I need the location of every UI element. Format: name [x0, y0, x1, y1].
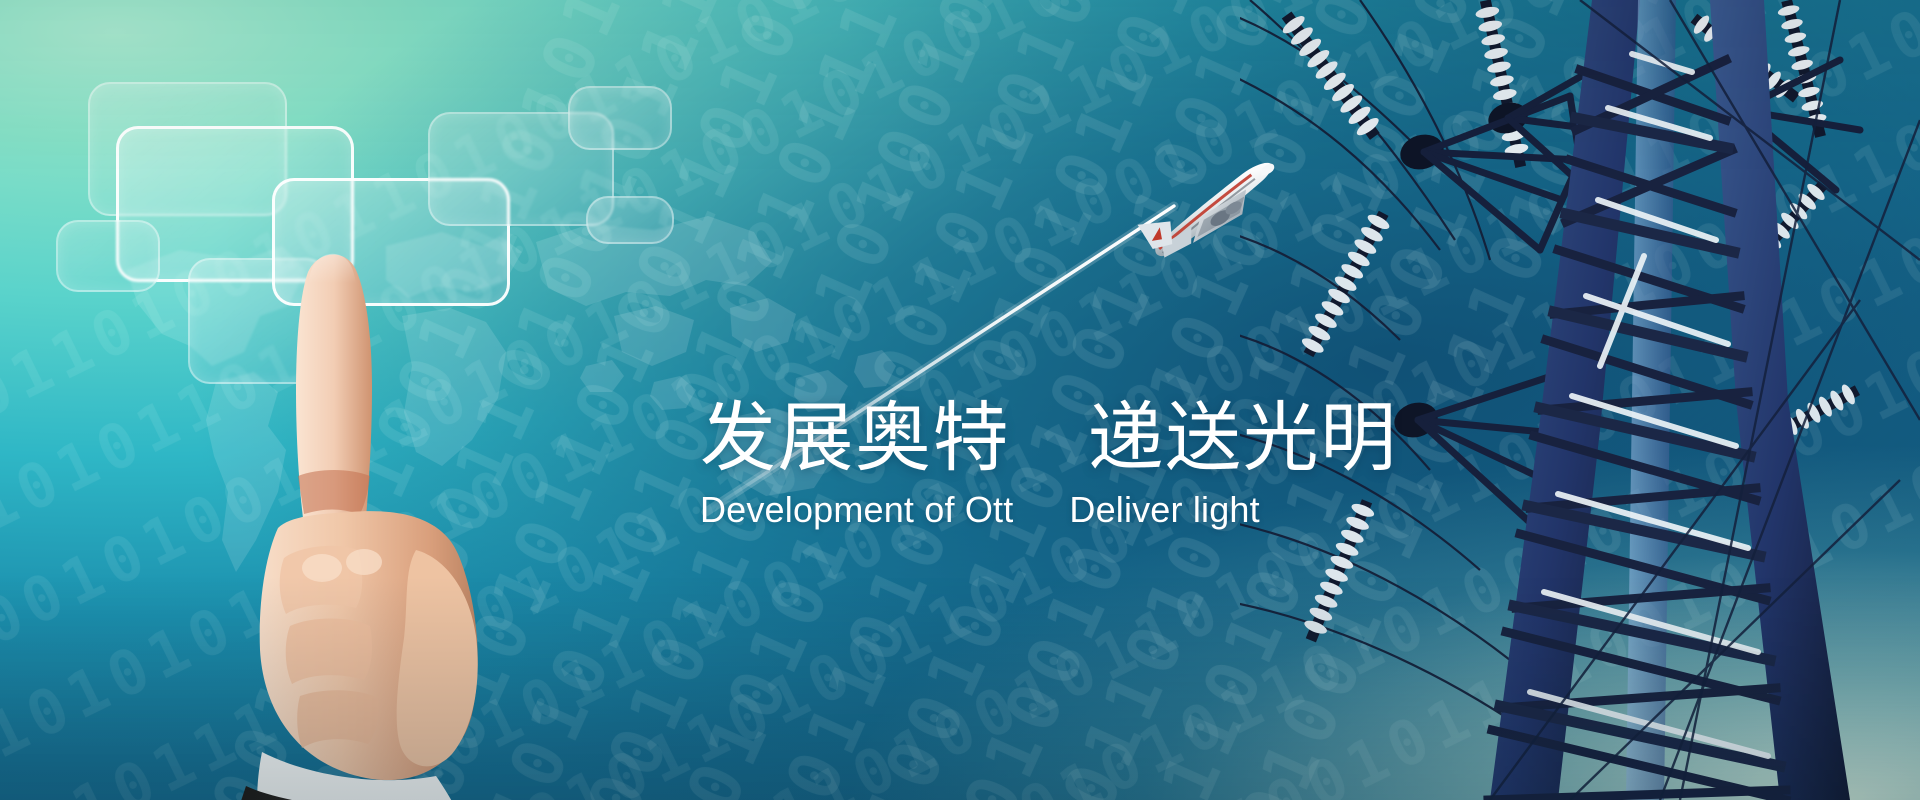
vignette-overlay: [0, 0, 1920, 800]
banner-canvas: 0101001010110100101101001011010011010101…: [0, 0, 1920, 800]
